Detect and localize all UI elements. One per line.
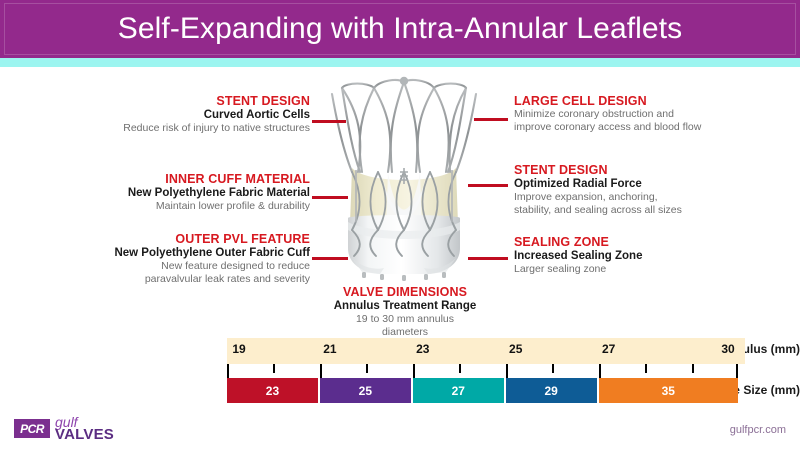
accent-bar xyxy=(0,58,800,67)
logo-word-valves: VALVES xyxy=(55,426,114,443)
valve-size-segment: 35 xyxy=(599,378,738,403)
annulus-tick-row xyxy=(227,364,745,378)
valve-size-segment: 27 xyxy=(413,378,506,403)
annotation-subtitle: New Polyethylene Fabric Material xyxy=(30,186,310,200)
annulus-tick xyxy=(320,364,322,378)
leader-line-outer-pvl xyxy=(312,257,348,260)
annotation-sealing-zone: SEALING ZONE Increased Sealing Zone Larg… xyxy=(514,235,794,276)
pcr-badge: PCR xyxy=(14,419,50,438)
annotation-heading: SEALING ZONE xyxy=(514,235,794,249)
annotation-heading: OUTER PVL FEATURE xyxy=(20,232,310,246)
annulus-tick xyxy=(506,364,508,378)
annulus-tick xyxy=(645,364,647,373)
annulus-scale-number: 25 xyxy=(509,342,522,356)
leader-line-sealing-zone xyxy=(468,257,508,260)
valve-size-segment: 23 xyxy=(227,378,320,403)
annotation-description-line2: improve coronary access and blood flow xyxy=(514,121,794,134)
gulf-valves-logo: PCR gulf VALVES xyxy=(14,415,154,445)
annotation-description: Maintain lower profile & durability xyxy=(30,200,310,213)
annotation-description-line2: stability, and sealing across all sizes xyxy=(514,204,794,217)
annotation-heading: INNER CUFF MATERIAL xyxy=(30,172,310,186)
title-bar: Self-Expanding with Intra-Annular Leafle… xyxy=(0,0,800,58)
annulus-tick xyxy=(736,364,738,378)
annulus-scale-number: 27 xyxy=(602,342,615,356)
annotation-subtitle: Increased Sealing Zone xyxy=(514,249,794,263)
annulus-tick xyxy=(599,364,601,378)
annotation-subtitle: Curved Aortic Cells xyxy=(30,108,310,122)
valve-illustration xyxy=(318,72,490,287)
leader-line-stent-design-right xyxy=(468,184,508,187)
annotation-description-line1: 19 to 30 mm annulus xyxy=(300,313,510,326)
annulus-tick xyxy=(413,364,415,378)
site-url: gulfpcr.com xyxy=(730,424,786,436)
nitinol-frame xyxy=(332,80,476,172)
annotation-subtitle: Optimized Radial Force xyxy=(514,177,794,191)
annotation-heading: STENT DESIGN xyxy=(30,94,310,108)
annotation-stent-design-left: STENT DESIGN Curved Aortic Cells Reduce … xyxy=(30,94,310,135)
valve-size-segment: 25 xyxy=(320,378,413,403)
annotation-inner-cuff: INNER CUFF MATERIAL New Polyethylene Fab… xyxy=(30,172,310,213)
annotation-description: Larger sealing zone xyxy=(514,263,794,276)
annotation-description-line1: Improve expansion, anchoring, xyxy=(514,191,794,204)
valve-size-segment: 29 xyxy=(506,378,599,403)
annulus-tick xyxy=(273,364,275,373)
valve-sizing-chart: Patient Annulus (mm) 192123252730 Valve … xyxy=(0,338,800,410)
outer-fabric-cuff xyxy=(348,215,460,274)
annulus-tick xyxy=(692,364,694,373)
annulus-scale-number: 21 xyxy=(323,342,336,356)
annotation-subtitle: New Polyethylene Outer Fabric Cuff xyxy=(20,246,310,260)
annotation-heading: VALVE DIMENSIONS xyxy=(300,285,510,299)
leader-line-stent-design-left xyxy=(312,120,346,123)
annulus-tick xyxy=(366,364,368,373)
annulus-tick xyxy=(552,364,554,373)
annotation-description-line2: diameters xyxy=(300,326,510,339)
annulus-scale-number: 23 xyxy=(416,342,429,356)
annotation-large-cell: LARGE CELL DESIGN Minimize coronary obst… xyxy=(514,94,794,133)
annulus-scale-band xyxy=(227,338,745,364)
annotation-outer-pvl: OUTER PVL FEATURE New Polyethylene Outer… xyxy=(20,232,310,285)
page-title: Self-Expanding with Intra-Annular Leafle… xyxy=(118,12,683,46)
annulus-tick xyxy=(227,364,229,378)
annotation-description-line1: Minimize coronary obstruction and xyxy=(514,108,794,121)
annotation-subtitle: Annulus Treatment Range xyxy=(300,299,510,313)
leader-line-inner-cuff xyxy=(312,196,348,199)
annotation-heading: LARGE CELL DESIGN xyxy=(514,94,794,108)
annotation-stent-design-right: STENT DESIGN Optimized Radial Force Impr… xyxy=(514,163,794,216)
annulus-tick xyxy=(459,364,461,373)
valve-size-bar: 2325272935 xyxy=(227,378,738,403)
annotation-description: Reduce risk of injury to native structur… xyxy=(30,122,310,135)
frame-apex-knob xyxy=(400,77,408,85)
leader-line-large-cell xyxy=(474,118,508,121)
annotation-description-line1: New feature designed to reduce xyxy=(20,260,310,273)
annotation-description-line2: paravalvular leak rates and severity xyxy=(20,273,310,286)
annotation-valve-dimensions: VALVE DIMENSIONS Annulus Treatment Range… xyxy=(300,285,510,338)
annulus-scale-number: 30 xyxy=(721,342,734,356)
annotation-heading: STENT DESIGN xyxy=(514,163,794,177)
annulus-scale-number: 19 xyxy=(232,342,245,356)
